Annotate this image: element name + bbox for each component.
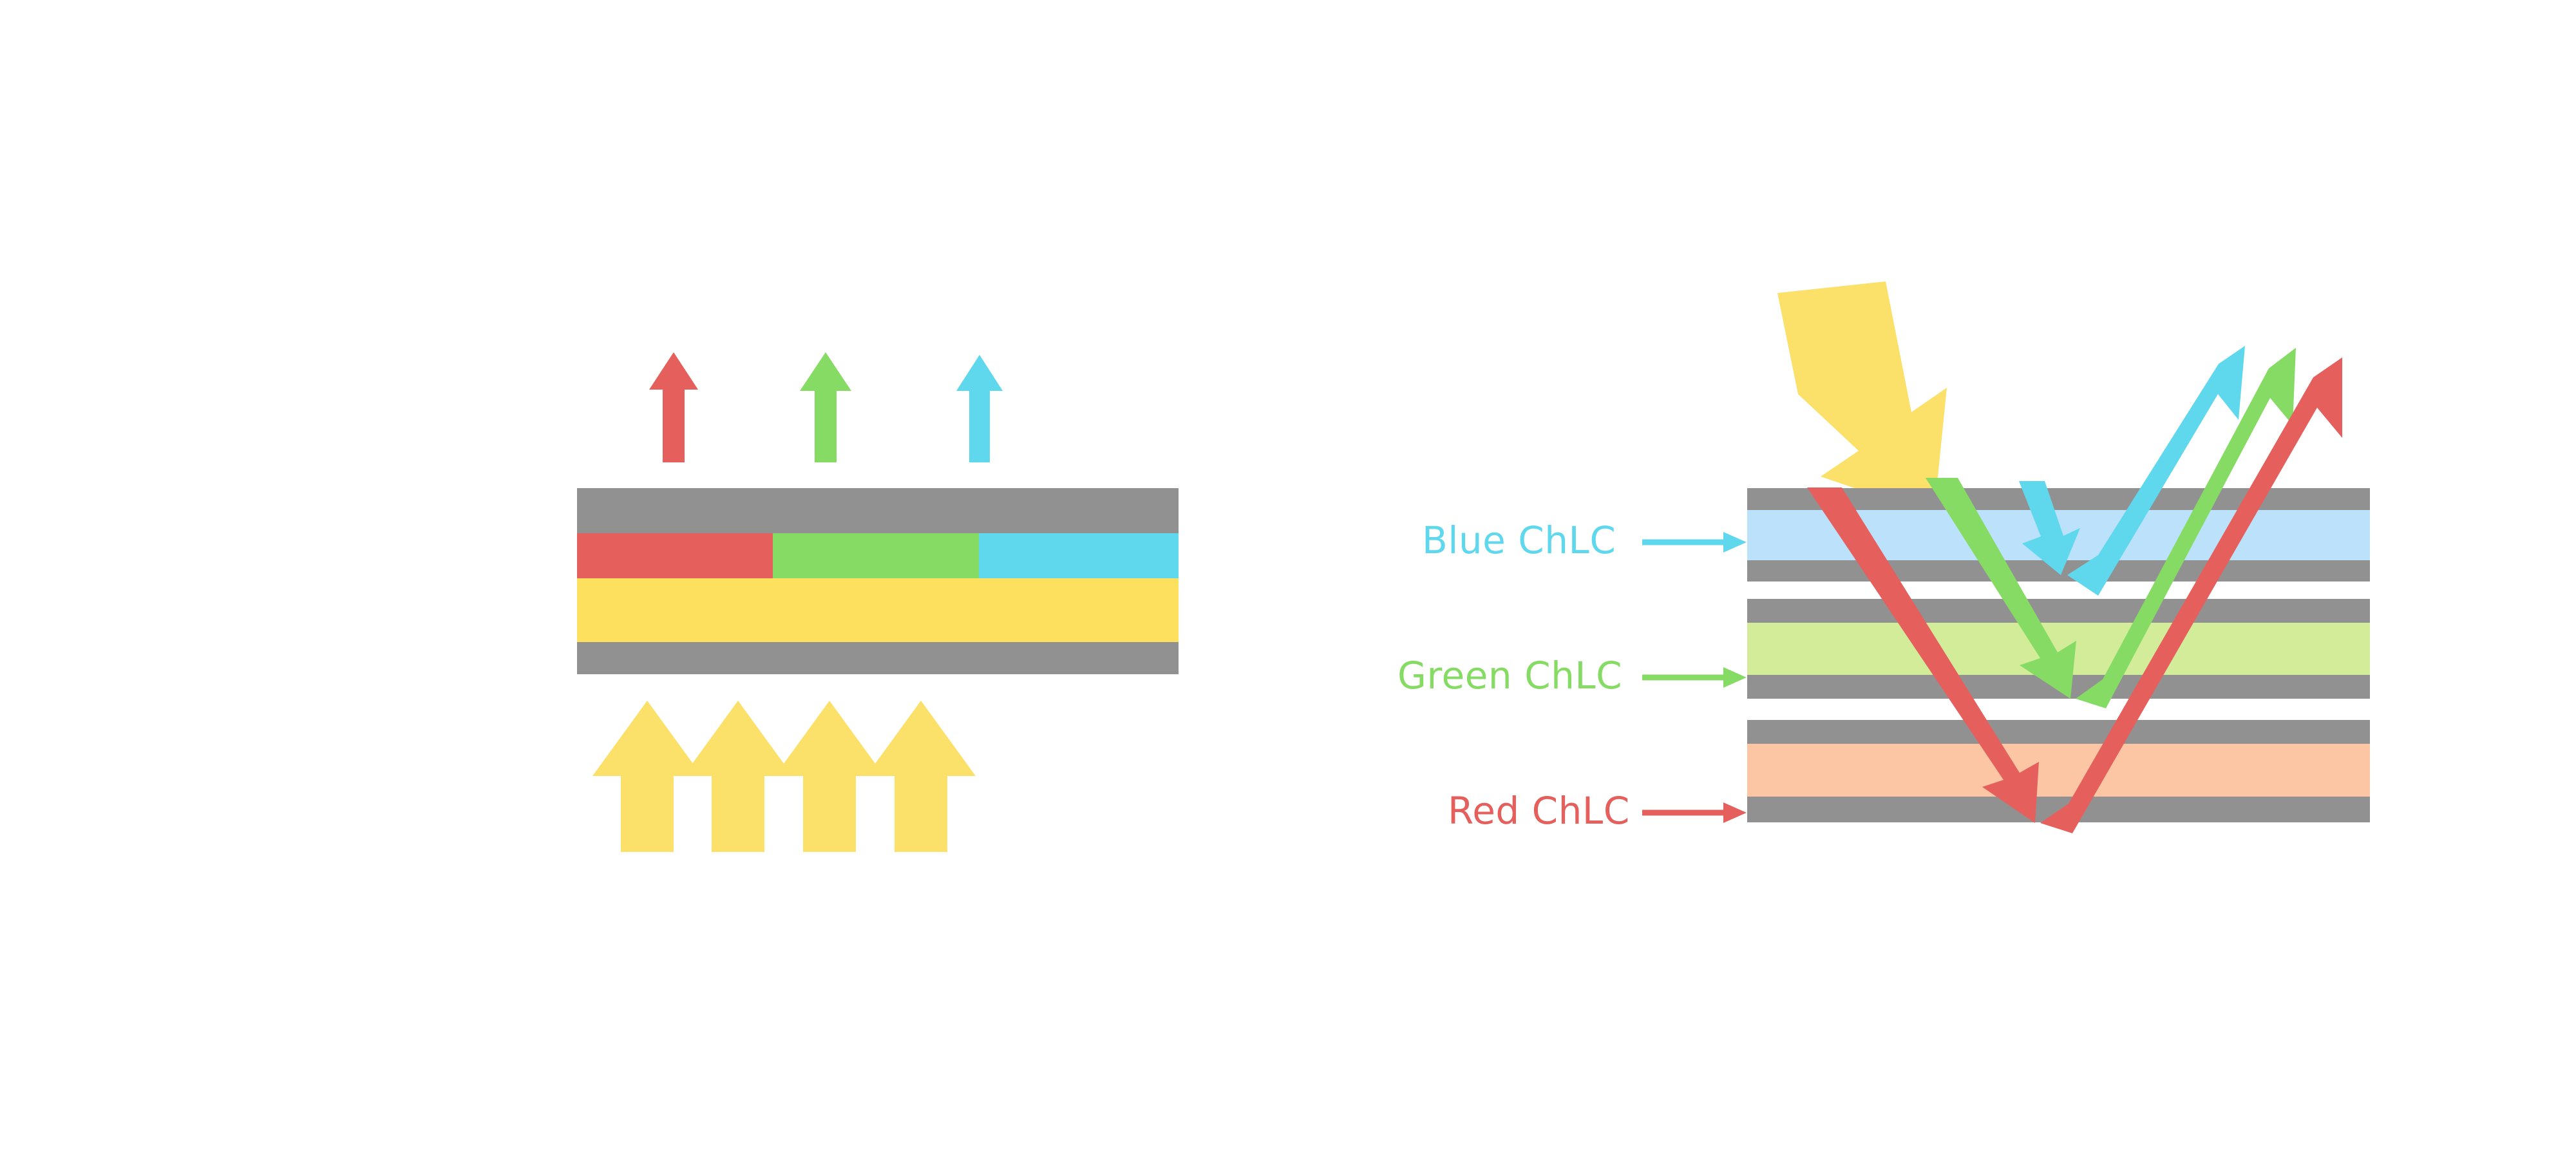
red-cell-top-electrode [1747,720,2370,744]
right-panel: Blue ChLC Green ChLC Red ChLC [1352,0,2576,1154]
label-blue-chlc-text: Blue ChLC [1422,518,1616,562]
label-red-chlc-arrow-icon [1642,802,1747,823]
layer-bottom-electrode [577,642,1179,674]
label-red-chlc: Red ChLC [1448,789,1747,833]
cyan-light-out-arrow [956,355,1003,462]
top-arrow-group [649,352,1003,462]
backlight-arrow-3 [775,701,884,852]
label-green-chlc-arrow-icon [1642,667,1747,688]
label-blue-chlc: Blue ChLC [1422,518,1747,562]
label-green-chlc-text: Green ChLC [1397,654,1622,697]
layer-color-filter-green [773,533,979,578]
label-red-chlc-text: Red ChLC [1448,789,1630,833]
left-panel [0,0,1288,1154]
backlight-arrow-2 [683,701,793,852]
red-light-out-arrow [649,352,698,462]
backlight-arrow-4 [866,701,976,852]
diagram-canvas: Blue ChLC Green ChLC Red ChLC [0,0,2576,1154]
label-blue-chlc-arrow-icon [1642,532,1747,553]
red-chlc-layer [1747,744,2370,797]
backlight-arrow-1 [592,701,702,852]
green-cell-top-electrode [1747,599,2370,623]
green-light-out-arrow [800,352,851,462]
layer-color-filter-red [577,533,773,578]
ambient-light-arrow [1777,281,1947,515]
layer-top-electrode [577,488,1179,533]
layer-backlight [577,578,1179,642]
label-green-chlc: Green ChLC [1397,654,1747,697]
layer-color-filter-cyan [979,533,1179,578]
left-stack [577,488,1179,674]
backlight-arrow-group [592,701,976,852]
